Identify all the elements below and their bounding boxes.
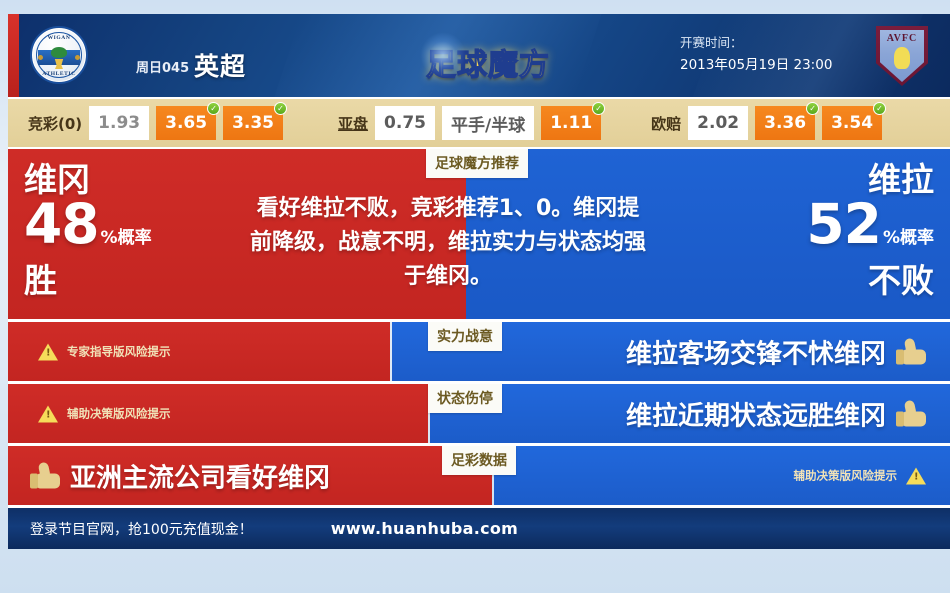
warning-icon (38, 343, 58, 360)
thumbs-up-icon (896, 401, 926, 427)
crest-tree (51, 47, 67, 58)
row3-risk-text: 辅助决策版风险提示 (794, 468, 898, 484)
odds-group-oupei: 欧赔 2.02 3.36 ✓ 3.54 ✓ (651, 106, 882, 140)
away-percent-value: 52 (806, 199, 881, 249)
check-icon: ✓ (873, 102, 886, 115)
crest-dot-left (38, 55, 43, 60)
odds-cell-oupei-2[interactable]: 3.36 ✓ (755, 106, 815, 140)
home-percent-suffix: %概率 (101, 213, 152, 263)
odds-value: 3.54 (831, 113, 873, 133)
row1-headline: 维拉客场交锋不怵维冈 (626, 333, 926, 370)
row2-risk-text: 辅助决策版风险提示 (67, 406, 171, 422)
odds-cell-jingcai-1[interactable]: 1.93 (89, 106, 149, 140)
odds-value: 3.65 (165, 113, 207, 133)
kickoff-time: 2013年05月19日 23:00 (680, 54, 832, 76)
odds-group-jingcai: 竞彩(0) 1.93 3.65 ✓ 3.35 ✓ (28, 106, 283, 140)
odds-value: 0.75 (384, 113, 426, 133)
odds-group-label: 竞彩(0) (28, 113, 82, 134)
aston-villa-crest-icon: AVFC (876, 26, 928, 86)
home-percent-value: 48 (24, 199, 99, 249)
tab-recommendation: 足球魔方推荐 (426, 149, 528, 178)
row2-headline-text: 维拉近期状态远胜维冈 (626, 395, 886, 432)
row3-headline: 亚洲主流公司看好维冈 (30, 457, 330, 494)
row2-headline: 维拉近期状态远胜维冈 (626, 395, 926, 432)
tab-form-injury: 状态伤停 (428, 384, 502, 413)
league-name: 英超 (194, 47, 246, 83)
check-icon: ✓ (592, 102, 605, 115)
odds-group-label[interactable]: 亚盘 (338, 113, 368, 134)
odds-cell-oupei-1[interactable]: 2.02 (688, 106, 748, 140)
home-verdict: 胜 (24, 263, 152, 299)
warning-icon (906, 467, 926, 484)
odds-cell-yapan-1[interactable]: 0.75 (375, 106, 435, 140)
home-probability-block: 维冈 48 %概率 胜 (24, 161, 152, 299)
row1-headline-text: 维拉客场交锋不怵维冈 (626, 333, 886, 370)
odds-bar: 竞彩(0) 1.93 3.65 ✓ 3.35 ✓ 亚盘 0.75 平手/半球 1… (8, 97, 950, 147)
crest-bottom-text: ATHLETIC (32, 71, 86, 77)
warning-icon (38, 405, 58, 422)
villa-crest-text: AVFC (876, 33, 928, 44)
tab-strength-intent: 实力战意 (428, 322, 502, 351)
table-row: 足彩数据 亚洲主流公司看好维冈 辅助决策版风险提示 (8, 443, 950, 505)
kickoff-info: 开赛时间： 2013年05月19日 23:00 (680, 32, 832, 76)
table-row: 实力战意 专家指导版风险提示 维拉客场交锋不怵维冈 (8, 319, 950, 381)
kickoff-label: 开赛时间： (680, 32, 832, 54)
match-preview-card: WIGAN ATHLETIC 周日045 英超 足球魔方 开赛时间： 2013年… (8, 14, 950, 580)
check-icon: ✓ (274, 102, 287, 115)
row2-risk-notice: 辅助决策版风险提示 (38, 405, 171, 422)
footer-site-url[interactable]: www.huanhuba.com (331, 519, 518, 538)
brand-logo: 足球魔方 (426, 40, 550, 84)
odds-value: 3.35 (232, 113, 274, 133)
wigan-athletic-crest-icon: WIGAN ATHLETIC (30, 26, 88, 84)
away-verdict: 不败 (806, 263, 934, 299)
away-percent-row: 52 %概率 (806, 199, 934, 263)
away-percent-suffix: %概率 (883, 213, 934, 263)
odds-cell-oupei-3[interactable]: 3.54 ✓ (822, 106, 882, 140)
odds-value: 平手/半球 (451, 111, 525, 136)
home-percent-row: 48 %概率 (24, 199, 152, 263)
check-icon: ✓ (207, 102, 220, 115)
thumbs-up-icon (896, 339, 926, 365)
odds-cell-jingcai-3[interactable]: 3.35 ✓ (223, 106, 283, 140)
odds-cell-yapan-3[interactable]: 1.11 ✓ (541, 106, 601, 140)
villa-lion-icon (894, 47, 910, 69)
odds-value: 1.11 (550, 113, 592, 133)
thumbs-up-icon (30, 463, 60, 489)
odds-value: 3.36 (764, 113, 806, 133)
tab-lottery-data: 足彩数据 (442, 446, 516, 475)
check-icon: ✓ (806, 102, 819, 115)
table-row: 状态伤停 辅助决策版风险提示 维拉近期状态远胜维冈 (8, 381, 950, 443)
odds-group-yapan: 亚盘 0.75 平手/半球 1.11 ✓ (338, 106, 601, 140)
row1-risk-notice: 专家指导版风险提示 (38, 343, 171, 360)
row3-headline-text: 亚洲主流公司看好维冈 (70, 457, 330, 494)
brand-logo-text: 足球魔方 (426, 40, 550, 84)
crest-top-text: WIGAN (32, 35, 86, 41)
crest-dot-right (75, 55, 80, 60)
footer-bar: 登录节目官网，抢100元充值现金！ www.huanhuba.com (8, 505, 950, 549)
info-rows: 实力战意 专家指导版风险提示 维拉客场交锋不怵维冈 状态伤停 辅助决策版风险提示 (8, 319, 950, 505)
match-header: WIGAN ATHLETIC 周日045 英超 足球魔方 开赛时间： 2013年… (8, 14, 950, 97)
prediction-panel: 足球魔方推荐 维冈 48 %概率 胜 维拉 52 %概率 不败 看好维拉不败，竞… (8, 147, 950, 319)
away-probability-block: 维拉 52 %概率 不败 (806, 161, 934, 299)
odds-value: 1.93 (98, 113, 140, 133)
match-number: 周日045 (136, 57, 189, 76)
row3-risk-notice: 辅助决策版风险提示 (794, 467, 927, 484)
prediction-text: 看好维拉不败，竞彩推荐1、0。维冈提前降级，战意不明，维拉实力与状态均强于维冈。 (248, 192, 648, 294)
odds-cell-yapan-2[interactable]: 平手/半球 (442, 106, 534, 140)
odds-cell-jingcai-2[interactable]: 3.65 ✓ (156, 106, 216, 140)
odds-group-label: 欧赔 (651, 113, 681, 134)
row1-risk-text: 专家指导版风险提示 (67, 344, 171, 360)
footer-promo-text: 登录节目官网，抢100元充值现金！ (30, 519, 253, 539)
odds-value: 2.02 (697, 113, 739, 133)
